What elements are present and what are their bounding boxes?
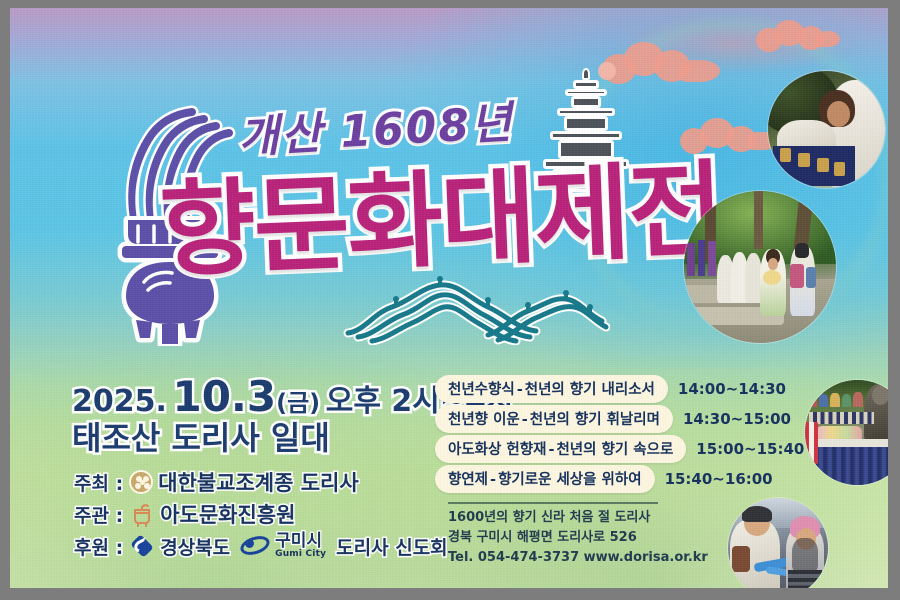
schedule-badge: 천년향 이운-천년의 향기 휘날리며 [435,405,673,433]
footer-divider [448,502,658,504]
schedule-row: 향연제-향기로운 세상을 위하여 15:40~16:00 [435,464,855,494]
schedule-badge: 아도화상 헌향재-천년의 향기 속으로 [435,435,686,463]
ado-foundation-logo-icon [129,501,155,527]
schedule-desc: 향기로운 세상을 위하여 [498,472,642,488]
cloud-motif-small [754,18,840,54]
schedule-dash: - [520,412,530,428]
poster-frame: 개산 1608년 향문화대제전 2025. 10.3(금) 오후 2시~4시 태… [0,0,900,600]
festival-poster: 개산 1608년 향문화대제전 2025. 10.3(금) 오후 2시~4시 태… [10,8,888,588]
sponsor-label: 후원 : [74,533,123,560]
jogye-order-logo-icon [129,470,153,494]
schedule-desc: 천년의 향기 내리소서 [525,382,655,398]
gyeongsangbukdo-logo-icon [129,536,155,556]
sponsor-name-2-en: Gumi City [275,550,326,559]
schedule-title: 천년수향식 [448,382,515,398]
event-place: 태조산 도리사 일대 [72,413,330,459]
schedule-badge: 천년수향식-천년의 향기 내리소서 [435,375,668,403]
host-label: 주최 : [74,469,123,496]
schedule-badge: 향연제-향기로운 세상을 위하여 [435,465,655,493]
photo-monk-and-visitors [728,498,828,588]
schedule-row: 천년향 이운-천년의 향기 휘날리며 14:30~15:00 [435,404,855,434]
schedule-row: 천년수향식-천년의 향기 내리소서 14:00~14:30 [435,374,855,404]
footer-info: 1600년의 향기 신라 처음 절 도리사 경북 구미시 해평면 도리사로 52… [448,508,708,568]
schedule-title: 향연제 [448,472,488,488]
sponsor-name-3: 도리사 신도회 [336,533,448,560]
organizer-block: 주최 : 대한불교조계종 도리사 주관 : [74,466,448,562]
mountain-wave-motif-icon [340,273,610,345]
schedule-title: 아도화상 헌향재 [448,442,546,458]
sponsor-row: 후원 : 경상북도 구미시 Gumi City 도리사 신도회 [74,530,448,562]
footer-contact: Tel. 054-474-3737 www.dorisa.or.kr [448,548,708,568]
schedule-dash: - [515,382,525,398]
schedule-desc: 천년의 향기 속으로 [556,442,673,458]
footer-address: 경북 구미시 해평면 도리사로 526 [448,528,708,548]
program-schedule: 천년수향식-천년의 향기 내리소서 14:00~14:30 천년향 이운-천년의… [435,374,855,494]
schedule-title: 천년향 이운 [448,412,520,428]
host-name: 대한불교조계종 도리사 [158,467,359,497]
schedule-time: 14:30~15:00 [683,410,791,428]
photo-ceremony-white-robes [768,71,885,188]
schedule-time: 14:00~14:30 [678,380,786,398]
manage-row: 주관 : 아도문화진흥원 [74,498,448,530]
schedule-time: 15:40~16:00 [665,470,773,488]
schedule-row: 아도화상 헌향재-천년의 향기 속으로 15:00~15:40 [435,434,855,464]
manage-label: 주관 : [74,501,123,528]
footer-tagline: 1600년의 향기 신라 처음 절 도리사 [448,508,708,528]
gumi-city-logo-icon [240,534,274,558]
schedule-dash: - [488,472,498,488]
photo-altar-offering [805,380,888,485]
sponsor-name-1: 경상북도 [160,533,230,560]
photo-forest-procession [684,191,836,343]
host-row: 주최 : 대한불교조계종 도리사 [74,466,448,498]
manage-name: 아도문화진흥원 [160,499,295,529]
schedule-dash: - [546,442,556,458]
schedule-time: 15:00~15:40 [696,440,804,458]
poster-title: 향문화대제전 [158,157,724,283]
sponsor-name-2-kr: 구미시 [275,533,326,550]
schedule-desc: 천년의 향기 휘날리며 [530,412,660,428]
gumi-city-wordmark: 구미시 Gumi City [275,533,326,559]
